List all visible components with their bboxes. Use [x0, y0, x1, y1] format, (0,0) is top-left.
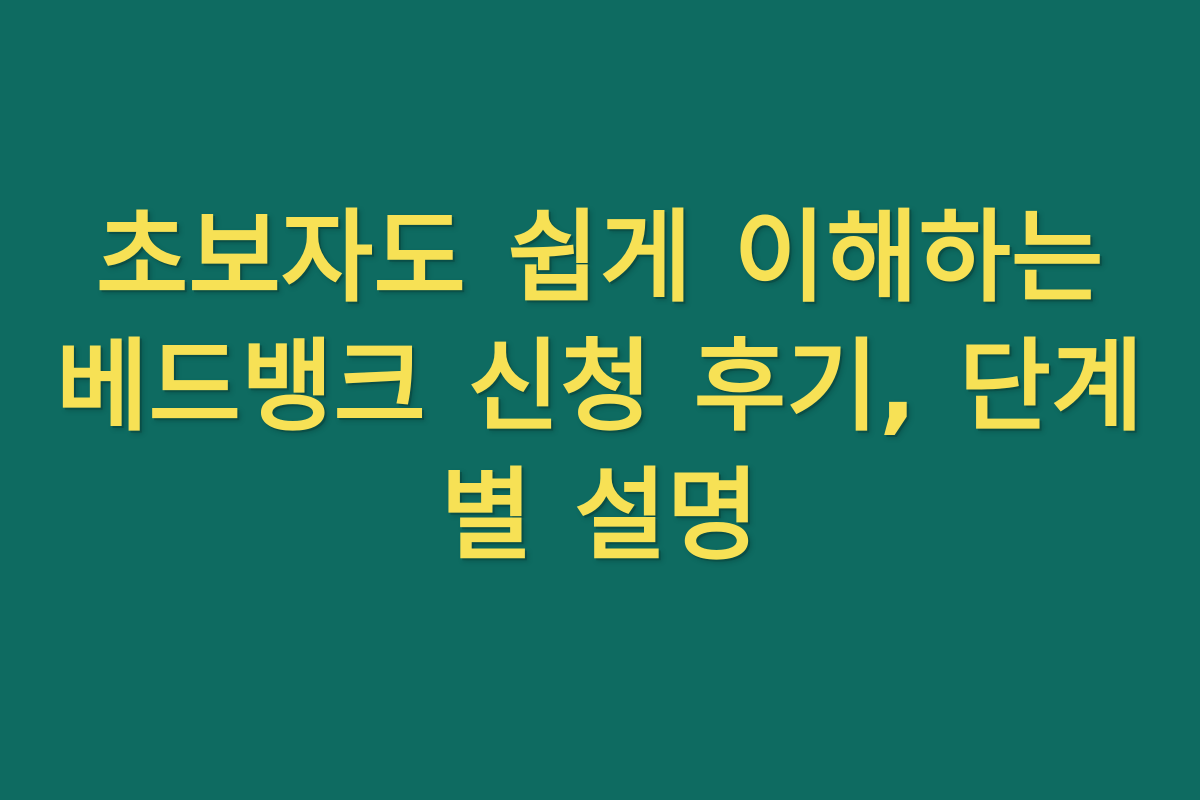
title-card: 초보자도 쉽게 이해하는 베드뱅크 신청 후기, 단계별 설명 [0, 0, 1200, 800]
page-title: 초보자도 쉽게 이해하는 베드뱅크 신청 후기, 단계별 설명 [50, 193, 1150, 580]
headline-block: 초보자도 쉽게 이해하는 베드뱅크 신청 후기, 단계별 설명 [50, 193, 1150, 580]
